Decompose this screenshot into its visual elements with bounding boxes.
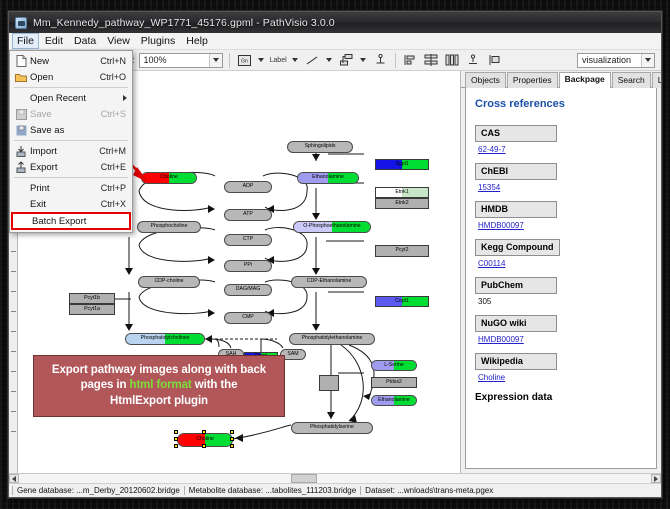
xref-value: 305 (478, 297, 647, 306)
pathway-node-pcyt1b[interactable]: Pcyt1b (69, 293, 115, 304)
tab-properties[interactable]: Properties (507, 72, 558, 88)
file-menu-item-label: Batch Export (32, 216, 124, 227)
file-menu-item-batch-export[interactable]: Batch Export (12, 213, 130, 229)
node-label: Etnk1 (395, 190, 408, 195)
menu-edit[interactable]: Edit (40, 33, 68, 49)
pathway-node-etnk1[interactable]: Etnk1 (375, 187, 429, 198)
xref-value[interactable]: C00114 (478, 259, 647, 268)
callout-line2-highlight: html format (130, 379, 192, 391)
resize-handle[interactable] (174, 430, 178, 434)
menu-file[interactable]: File (12, 33, 39, 49)
file-menu-item-save-as[interactable]: Save as (10, 122, 132, 138)
file-menu-item-accelerator: Ctrl+M (99, 146, 132, 156)
xref-value[interactable]: 15354 (478, 183, 647, 192)
file-menu-separator (14, 177, 128, 178)
callout-line2-pre: pages in (81, 379, 130, 391)
pathway-node-ethanolamine-bot[interactable]: Ethanolamine (371, 395, 417, 406)
label-dropdown-icon[interactable] (291, 52, 300, 69)
node-label: Pcyt2 (396, 248, 409, 253)
visualization-value: visualization (582, 55, 641, 65)
resize-handle[interactable] (230, 437, 234, 441)
file-menu-item-accelerator: Ctrl+E (101, 162, 132, 172)
resize-handle[interactable] (230, 444, 234, 448)
file-menu-item-accelerator: Ctrl+O (100, 72, 132, 82)
tab-objects[interactable]: Objects (465, 72, 506, 88)
resize-handle[interactable] (174, 444, 178, 448)
node-label: Ethanolamine (378, 398, 410, 403)
xref-link[interactable]: 62-49-7 (478, 145, 506, 154)
node-label: Phosphatidylethanolamine (302, 336, 363, 341)
xref-header: ChEBI (475, 163, 557, 180)
file-menu-item-label: Open Recent (30, 93, 126, 104)
pathway-node-pcyt1a[interactable]: Pcyt1a (69, 304, 115, 315)
node-label: O-Phosphoethanolamine (303, 224, 360, 229)
node-label: CMP (242, 315, 254, 320)
menu-plugins[interactable]: Plugins (136, 33, 180, 49)
annotation-callout: Export pathway images along with back pa… (33, 355, 285, 417)
expression-data-title: Expression data (475, 392, 647, 403)
tab-legend[interactable]: Legend (652, 72, 662, 88)
backpage-content: Cross references CAS62-49-7ChEBI15354HMD… (465, 88, 657, 469)
xref-value[interactable]: HMDB00097 (478, 335, 647, 344)
resize-handle[interactable] (202, 430, 206, 434)
submenu-chevron-icon (123, 95, 127, 101)
file-menu-item-label: Save (30, 109, 101, 120)
file-menu-item-save: SaveCtrl+S (10, 106, 132, 122)
side-panel: Objects Properties Backpage Search Legen… (461, 71, 661, 473)
zoom-value: 100% (144, 55, 209, 65)
pathvisio-icon (15, 17, 27, 29)
xref-link[interactable]: HMDB00097 (478, 221, 524, 230)
pathway-node-ptdserine[interactable]: Phosphatidylserine (291, 422, 373, 434)
file-menu-item-open[interactable]: OpenCtrl+O (10, 69, 132, 85)
node-label: Cept1 (395, 299, 409, 304)
file-menu-item-accelerator: Ctrl+X (101, 199, 132, 209)
pathway-node-ethanolamine-top[interactable]: Ethanolamine (297, 172, 359, 184)
toolbar-separator-2 (395, 53, 396, 68)
node-label: SAM (287, 352, 298, 357)
xref-header: Kegg Compound (475, 239, 560, 256)
node-label: Ethanolamine (312, 175, 344, 180)
anchor-icon[interactable] (372, 52, 389, 69)
export-icon (12, 161, 30, 173)
pathway-node-phosphocholine[interactable]: Phosphocholine (137, 221, 201, 233)
node-label: Choline (196, 437, 214, 442)
xref-link[interactable]: C00114 (478, 259, 505, 268)
xref-entry: HMDBHMDB00097 (475, 199, 647, 230)
node-label: Sphingolipids (305, 144, 336, 149)
xref-link[interactable]: Choline (478, 373, 505, 382)
scroll-track[interactable] (19, 474, 651, 483)
import-icon (12, 145, 30, 157)
pathway-node-ptdethanolamine[interactable]: Phosphatidylethanolamine (289, 333, 375, 345)
node-label: L-Serine (384, 363, 404, 368)
pathway-node-atp[interactable]: ATP (224, 209, 272, 221)
pathway-node-cdp-choline[interactable]: CDP-choline (138, 276, 200, 288)
interaction-dropdown-icon[interactable] (359, 52, 368, 69)
save-icon (12, 109, 30, 120)
xref-entry: NuGO wikiHMDB00097 (475, 313, 647, 344)
pathway-node-l-serine[interactable]: L-Serine (371, 360, 417, 371)
file-menu-item-accelerator: Ctrl+N (100, 56, 132, 66)
xref-value[interactable]: Choline (478, 373, 647, 382)
xref-header: Wikipedia (475, 353, 557, 370)
callout-line3: HtmlExport plugin (110, 395, 208, 407)
chevron-down-icon-2[interactable] (641, 54, 654, 67)
tab-search[interactable]: Search (612, 72, 651, 88)
resize-handle[interactable] (202, 444, 206, 448)
side-panel-tabs: Objects Properties Backpage Search Legen… (461, 71, 661, 88)
title-bar: Mm_Kennedy_pathway_WP1771_45176.gpml - P… (9, 12, 661, 33)
node-label: CTP (243, 237, 253, 242)
toolbar-separator (229, 53, 230, 68)
status-dataset: Dataset: ...wnloads\trans-meta.pgex (360, 486, 497, 495)
file-menu-item-label: Open (30, 72, 100, 83)
label-tool-text[interactable]: Label (270, 57, 287, 64)
file-menu-item-import[interactable]: ImportCtrl+M (10, 143, 132, 159)
align-center-icon[interactable] (423, 52, 440, 69)
node-label: Sgpl1 (395, 162, 408, 167)
file-menu-item-label: New (30, 56, 100, 67)
gene-product-dropdown-icon[interactable] (257, 52, 266, 69)
pathway-node-dag-mag[interactable]: DAG/MAG (224, 284, 272, 296)
node-label: Etnk2 (395, 201, 408, 206)
xref-entry: WikipediaCholine (475, 351, 647, 382)
pathway-node-choline[interactable]: Choline (141, 172, 197, 184)
gene-product-icon[interactable]: Gn (236, 52, 253, 69)
xref-header: HMDB (475, 201, 557, 218)
pathway-node-cdp-ethanolamine[interactable]: CDP-Ethanolamine (291, 276, 367, 288)
xref-header: CAS (475, 125, 557, 142)
cross-references-title: Cross references (475, 98, 647, 110)
xref-entry: PubChem305 (475, 275, 647, 306)
node-label: Choline (160, 175, 178, 180)
file-menu-item-export[interactable]: ExportCtrl+E (10, 159, 132, 175)
pathway-node-ptdcholines[interactable]: Phosphatidylcholines (125, 333, 205, 345)
file-menu-separator (14, 87, 128, 88)
file-menu-item-label: Import (30, 146, 99, 157)
scroll-left-icon[interactable] (9, 474, 19, 483)
tab-backpage[interactable]: Backpage (559, 72, 611, 88)
pathway-node-o-phosphoeth[interactable]: O-Phosphoethanolamine (293, 221, 371, 233)
menu-bar: File Edit Data View Plugins Help (9, 33, 661, 50)
xref-entry: ChEBI15354 (475, 161, 647, 192)
file-menu-item-label: Exit (30, 199, 101, 210)
arrowhead (312, 154, 320, 161)
line-dropdown-icon[interactable] (325, 52, 334, 69)
resize-handle[interactable] (174, 437, 178, 441)
file-menu-dropdown[interactable]: NewCtrl+NOpenCtrl+OOpen RecentSaveCtrl+S… (9, 50, 133, 233)
xref-header: NuGO wiki (475, 315, 557, 332)
node-label: Phosphocholine (151, 224, 188, 229)
group-icon[interactable] (486, 52, 503, 69)
node-label: PPi (244, 263, 252, 268)
pathway-node-ctp[interactable]: CTP (224, 234, 272, 246)
pathway-node-adp[interactable]: ADP (224, 181, 272, 193)
pathway-node-sgpl1[interactable]: Sgpl1 (375, 159, 429, 170)
pathway-node-cept1[interactable]: Cept1 (375, 296, 429, 307)
xref-entry: Kegg CompoundC00114 (475, 237, 647, 268)
status-gene-database: Gene database: ...m_Derby_20120602.bridg… (12, 486, 184, 495)
resize-handle[interactable] (230, 430, 234, 434)
window-title: Mm_Kennedy_pathway_WP1771_45176.gpml - P… (33, 17, 335, 29)
pathway-node-etnk2[interactable]: Etnk2 (375, 198, 429, 209)
node-label: Phosphatidylserine (310, 425, 354, 430)
node-label: Pcyt1b (84, 296, 100, 301)
stack-icon[interactable] (465, 52, 482, 69)
xref-link[interactable]: 15354 (478, 183, 500, 192)
xref-header: PubChem (475, 277, 557, 294)
visualization-combobox[interactable]: visualization (577, 53, 655, 68)
cross-reference-list: CAS62-49-7ChEBI15354HMDBHMDB00097Kegg Co… (475, 123, 647, 382)
pathway-node-cmp[interactable]: CMP (224, 312, 272, 324)
menu-data[interactable]: Data (69, 33, 101, 49)
status-bar: Gene database: ...m_Derby_20120602.bridg… (9, 483, 661, 497)
node-label: Ptdss2 (386, 380, 402, 385)
pathway-node-sphingolipids[interactable]: Sphingolipids (287, 141, 353, 153)
node-label: ATP (243, 212, 253, 217)
menu-help[interactable]: Help (181, 33, 213, 49)
save-as-icon (12, 125, 30, 136)
align-left-icon[interactable] (402, 52, 419, 69)
callout-line1: Export pathway images along with back (52, 364, 266, 376)
callout-line2-post: with the (192, 379, 238, 391)
pathvisio-window: Mm_Kennedy_pathway_WP1771_45176.gpml - P… (8, 11, 662, 498)
file-menu-item-accelerator: Ctrl+P (101, 183, 132, 193)
menu-view[interactable]: View (102, 33, 135, 49)
zoom-combobox[interactable]: 100% (139, 53, 223, 68)
line-icon[interactable] (304, 52, 321, 69)
node-label: ADP (243, 184, 254, 189)
interaction-icon[interactable] (338, 52, 355, 69)
node-label: CDP-choline (154, 279, 183, 284)
svg-text:Gn: Gn (241, 58, 248, 64)
xref-value[interactable]: HMDB00097 (478, 221, 647, 230)
horizontal-scrollbar[interactable] (9, 473, 661, 483)
file-menu-item-label: Print (30, 183, 101, 194)
pathway-node-ppi[interactable]: PPi (224, 260, 272, 272)
chevron-down-icon[interactable] (209, 54, 222, 67)
file-menu-item-accelerator: Ctrl+S (101, 109, 132, 119)
file-menu-item-new[interactable]: NewCtrl+N (10, 53, 132, 69)
distribute-icon[interactable] (444, 52, 461, 69)
new-file-icon (12, 55, 30, 67)
xref-value[interactable]: 62-49-7 (478, 145, 647, 154)
file-menu-item-exit[interactable]: ExitCtrl+X (10, 196, 132, 212)
file-menu-separator (14, 140, 128, 141)
xref-entry: CAS62-49-7 (475, 123, 647, 154)
scroll-thumb[interactable] (291, 474, 317, 483)
scroll-right-icon[interactable] (651, 474, 661, 483)
node-label: DAG/MAG (236, 287, 261, 292)
pathway-node-ptdss2[interactable]: Ptdss2 (371, 377, 417, 388)
folder-icon (12, 72, 30, 82)
file-menu-item-print[interactable]: PrintCtrl+P (10, 180, 132, 196)
pathway-node-pcyt2[interactable]: Pcyt2 (375, 245, 429, 257)
file-menu-item-label: Export (30, 162, 101, 173)
node-label: CDP-Ethanolamine (307, 279, 351, 284)
file-menu-item-label: Save as (30, 125, 126, 136)
xref-link[interactable]: HMDB00097 (478, 335, 524, 344)
status-metabolite-database: Metabolite database: ...tabolites_111203… (184, 486, 360, 495)
file-menu-item-open-recent[interactable]: Open Recent (10, 90, 132, 106)
pathway-node-chkb-group[interactable] (319, 375, 339, 391)
node-label: Phosphatidylcholines (141, 336, 190, 341)
node-label: Pcyt1a (84, 307, 100, 312)
